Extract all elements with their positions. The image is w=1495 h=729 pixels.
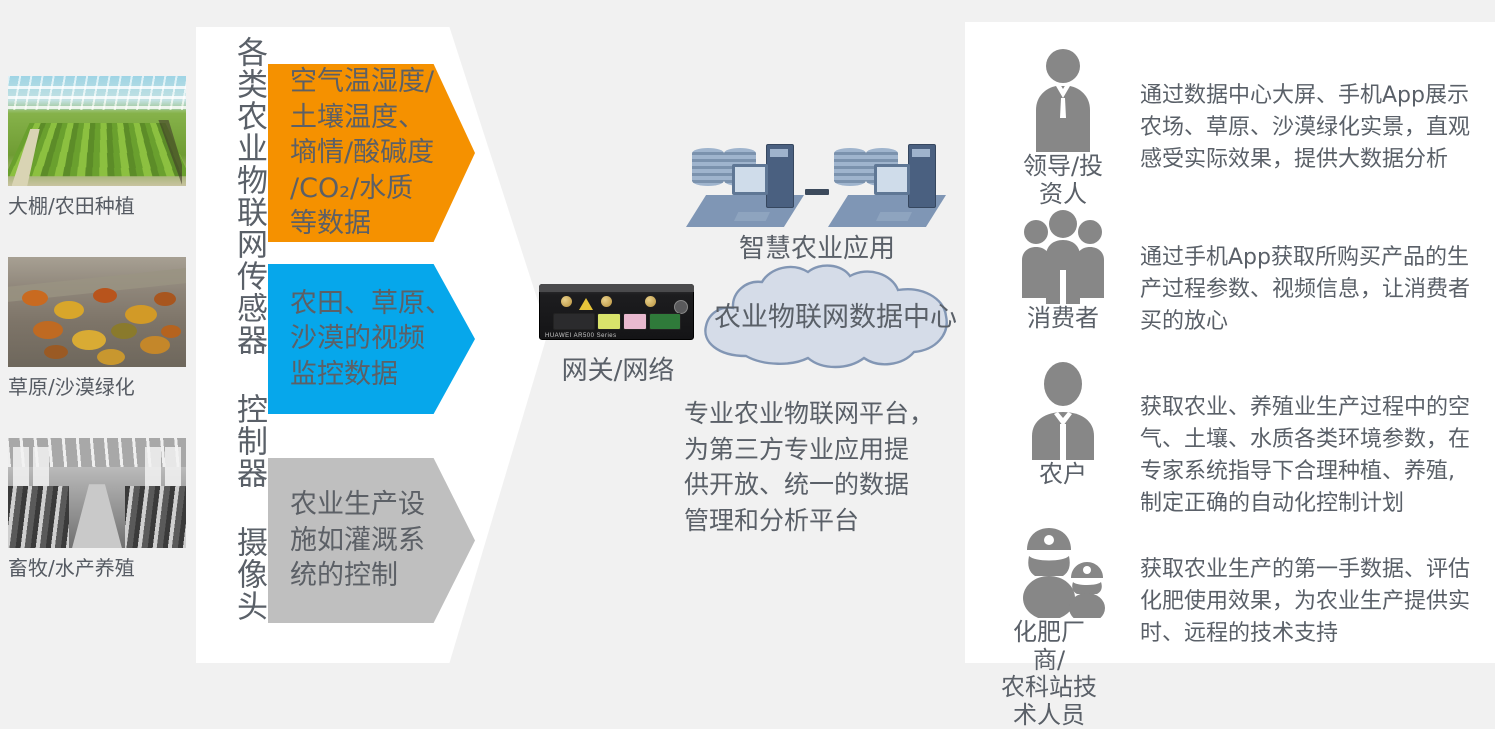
persona-icon-wrap: 消费者 bbox=[1013, 210, 1113, 333]
gateway-network-label: 网关/网络 bbox=[533, 350, 703, 387]
greenhouse-crops-photo bbox=[8, 76, 186, 186]
gateway-router-icon: HUAWEI AR500 Series bbox=[539, 284, 694, 340]
persona-name: 消费者 bbox=[1013, 305, 1113, 333]
cattle-barn-photo bbox=[8, 438, 186, 548]
chevron-control-data-text: 农业生产设 施如灌溉系 统的控制 bbox=[268, 487, 431, 594]
server-icon-right bbox=[828, 142, 946, 227]
persona-description: 通过手机App获取所购买产品的生 产过程参数、视频信息，让消费者 买的放心 bbox=[1140, 242, 1488, 338]
persona-icon-wrap: 农户 bbox=[1013, 360, 1113, 489]
autumn-steppe-photo bbox=[8, 257, 186, 367]
stakeholders-panel: 领导/投资人 通过数据中心大屏、手机App展示 农场、草原、沙漠绿化实景，直观 … bbox=[965, 22, 1495, 663]
businessman-icon bbox=[1026, 48, 1100, 152]
vertical-category-label: 各类农业物联网传感器 控制器 摄像头 bbox=[206, 36, 264, 656]
platform-description-text: 专业农业物联网平台， 为第三方专业应用提 供开放、统一的数据 管理和分析平台 bbox=[684, 396, 959, 538]
persona-name: 领导/投资人 bbox=[1013, 153, 1113, 208]
photo-caption: 大棚/农田种植 bbox=[8, 190, 186, 219]
chevron-sensor-data[interactable]: 空气温湿度/ 土壤温度、 墒情/酸碱度 /CO₂/水质 等数据 bbox=[268, 64, 475, 242]
server-icon-left bbox=[686, 142, 804, 227]
photo-item-steppe: 草原/沙漠绿化 bbox=[8, 257, 186, 400]
persona-description: 通过数据中心大屏、手机App展示 农场、草原、沙漠绿化实景，直观 感受实际效果，… bbox=[1140, 80, 1488, 176]
group-of-people-icon bbox=[1020, 210, 1106, 304]
photo-item-greenhouse: 大棚/农田种植 bbox=[8, 76, 186, 219]
server-link-line bbox=[805, 189, 829, 195]
chevron-video-data[interactable]: 农田、草原、 沙漠的视频 监控数据 bbox=[268, 264, 475, 414]
chevron-control-data[interactable]: 农业生产设 施如灌溉系 统的控制 bbox=[268, 458, 475, 623]
photo-caption: 畜牧/水产养殖 bbox=[8, 552, 186, 581]
single-person-icon bbox=[1026, 360, 1100, 460]
photo-item-barn: 畜牧/水产养殖 bbox=[8, 438, 186, 581]
chevron-video-data-text: 农田、草原、 沙漠的视频 监控数据 bbox=[268, 286, 458, 393]
persona-description: 获取农业、养殖业生产过程中的空 气、土壤、水质各类环境参数，在 专家系统指导下合… bbox=[1140, 392, 1488, 520]
persona-name: 农户 bbox=[1013, 461, 1113, 489]
smart-agriculture-app-label: 智慧农业应用 bbox=[686, 228, 948, 265]
photo-caption: 草原/沙漠绿化 bbox=[8, 371, 186, 400]
gateway-brand-text: HUAWEI AR500 Series bbox=[545, 333, 617, 339]
chevron-sensor-data-text: 空气温湿度/ 土壤温度、 墒情/酸碱度 /CO₂/水质 等数据 bbox=[268, 64, 440, 242]
persona-icon-wrap: 领导/投资人 bbox=[1013, 48, 1113, 208]
slide-canvas: 大棚/农田种植 bbox=[0, 0, 1495, 663]
two-people-icon bbox=[1019, 522, 1107, 618]
source-photos-column: 大棚/农田种植 bbox=[0, 0, 196, 663]
data-center-label: 农业物联网数据中心 bbox=[698, 295, 973, 334]
persona-name: 化肥厂商/ 农科站技术人员 bbox=[999, 619, 1099, 729]
persona-description: 获取农业生产的第一手数据、评估 化肥使用效果，为农业生产提供实 时、远程的技术支… bbox=[1140, 554, 1488, 650]
persona-icon-wrap: 化肥厂商/ 农科站技术人员 bbox=[1013, 522, 1113, 729]
application-servers-icon bbox=[686, 142, 946, 227]
